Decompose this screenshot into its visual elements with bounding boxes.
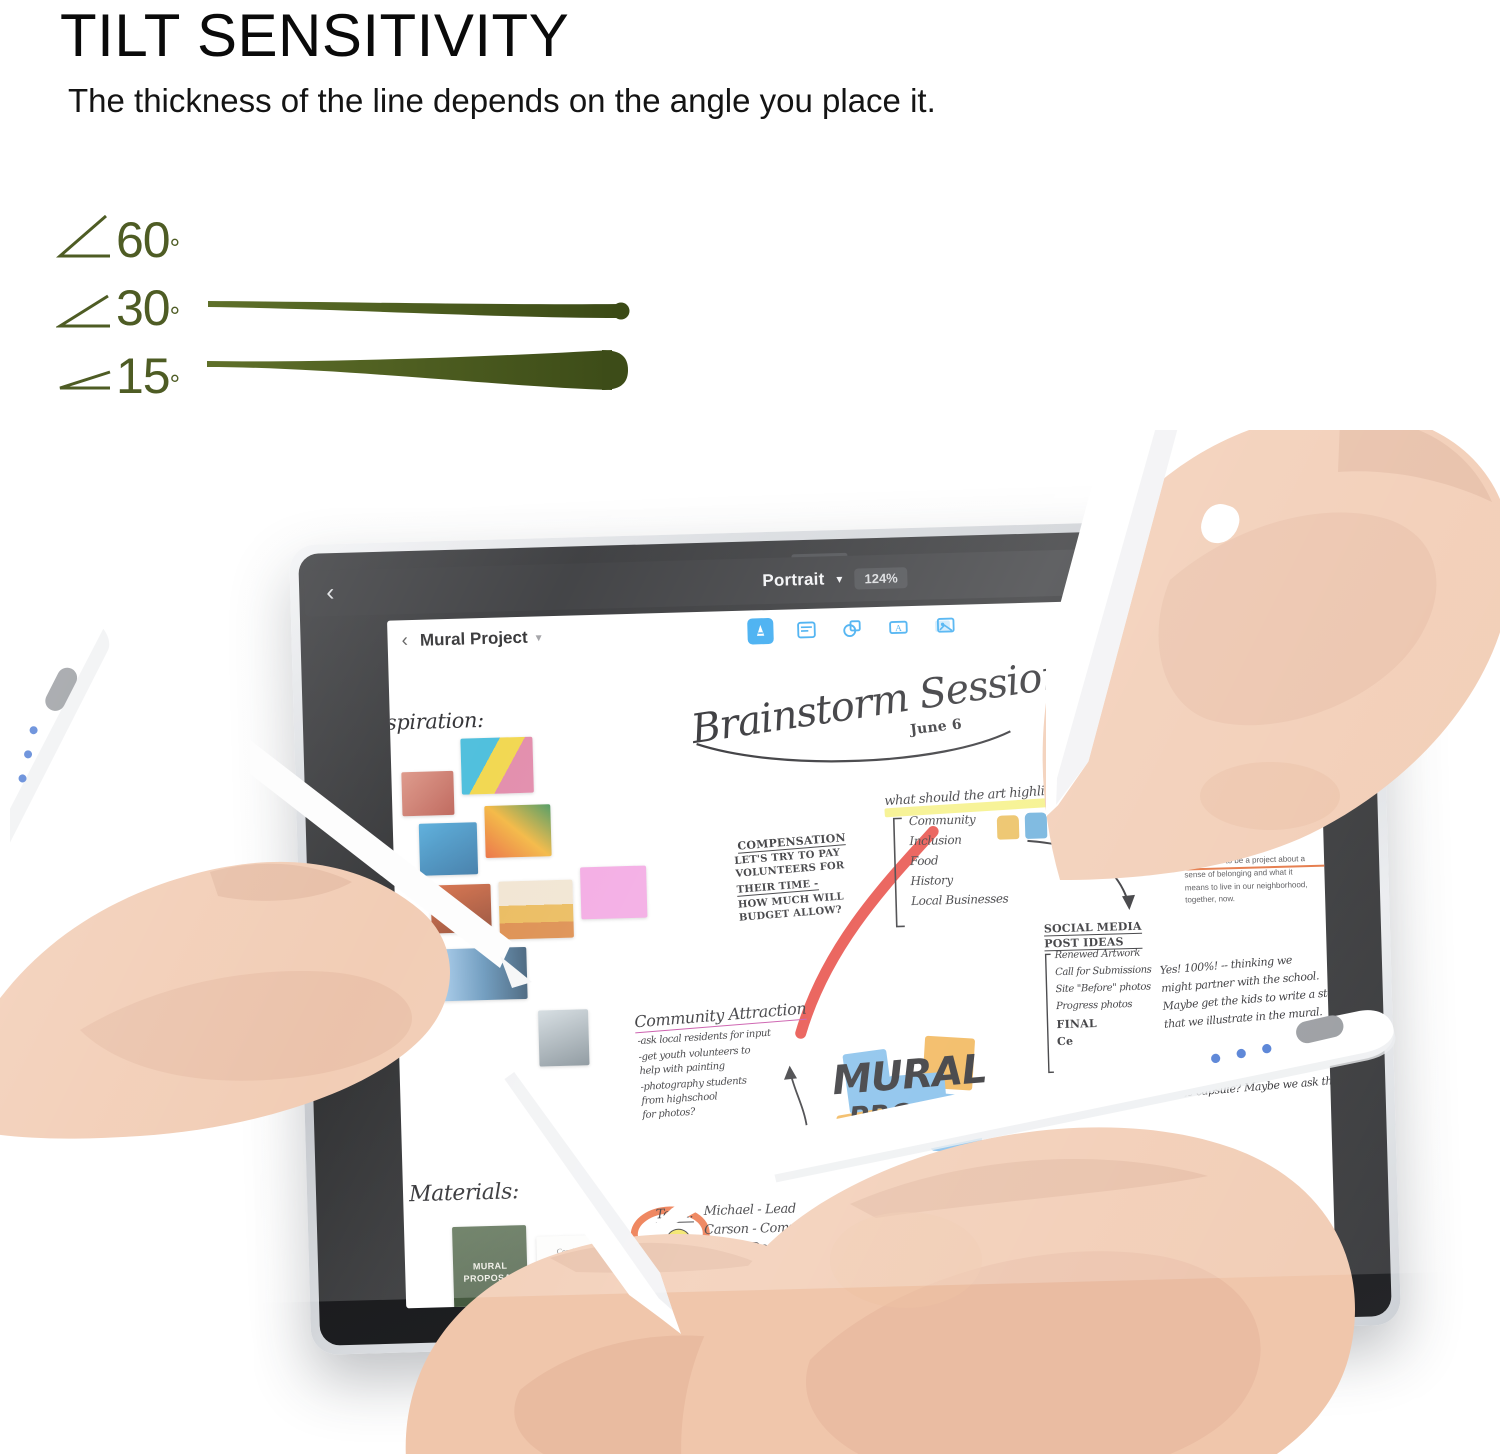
angle-demo: 60° 30° (56, 206, 676, 410)
angle-symbol-icon (56, 212, 114, 264)
note-compensation-body: LET'S TRY TO PAY VOLUNTEERS FOR THEIR TI… (734, 847, 848, 924)
stroke-sample-30 (204, 274, 634, 334)
angle-row-30: 30° (56, 274, 676, 342)
list-bracket (889, 814, 910, 932)
headline-block: TILT SENSITIVITY The thickness of the li… (60, 4, 1360, 121)
angle-symbol-icon (56, 348, 114, 400)
product-photo: ‹ Portrait ▾ 124% ? (0, 430, 1500, 1454)
angle-value-30: 30 (116, 285, 170, 333)
angle-value-60: 60 (116, 217, 170, 265)
angle-value-15: 15 (116, 353, 170, 401)
chevron-down-icon[interactable]: ▾ (836, 572, 842, 586)
shapes-tool-tab[interactable] (839, 615, 866, 642)
pen-tool-tab[interactable] (747, 618, 774, 645)
svg-text:A: A (895, 623, 902, 633)
zoom-level-badge[interactable]: 124% (854, 567, 908, 589)
social-title-line: SOCIAL MEDIA (1044, 920, 1142, 937)
degree-symbol: ° (170, 301, 180, 332)
orientation-control[interactable]: Portrait ▾ 124% (762, 567, 908, 592)
angle-symbol-icon (56, 280, 114, 332)
text-box-tool-tab[interactable]: A (885, 614, 912, 641)
stylus-top-right (1046, 430, 1446, 855)
angle-row-15: 15° (56, 342, 676, 410)
angle-label-60: 60° (56, 206, 180, 264)
degree-symbol: ° (170, 369, 180, 400)
orientation-label: Portrait (762, 569, 825, 591)
page-subtitle: The thickness of the line depends on the… (68, 81, 1360, 121)
sticky-note-tool-tab[interactable] (793, 617, 820, 644)
stroke-sample-60 (204, 206, 634, 266)
stylus-bottom-right (570, 950, 1450, 1275)
canvas-tool-tabs: A (747, 613, 958, 645)
note-social-title: SOCIAL MEDIA POST IDEAS (1044, 920, 1142, 952)
angle-label-30: 30° (56, 274, 180, 332)
angle-label-15: 15° (56, 342, 180, 400)
highlight-list-item: Local Businesses (911, 891, 1009, 908)
page-title: TILT SENSITIVITY (60, 4, 1360, 67)
stroke-sample-15 (204, 342, 634, 402)
angle-row-60: 60° (56, 206, 676, 274)
degree-symbol: ° (170, 233, 180, 264)
stylus-left-nib (250, 730, 570, 1030)
